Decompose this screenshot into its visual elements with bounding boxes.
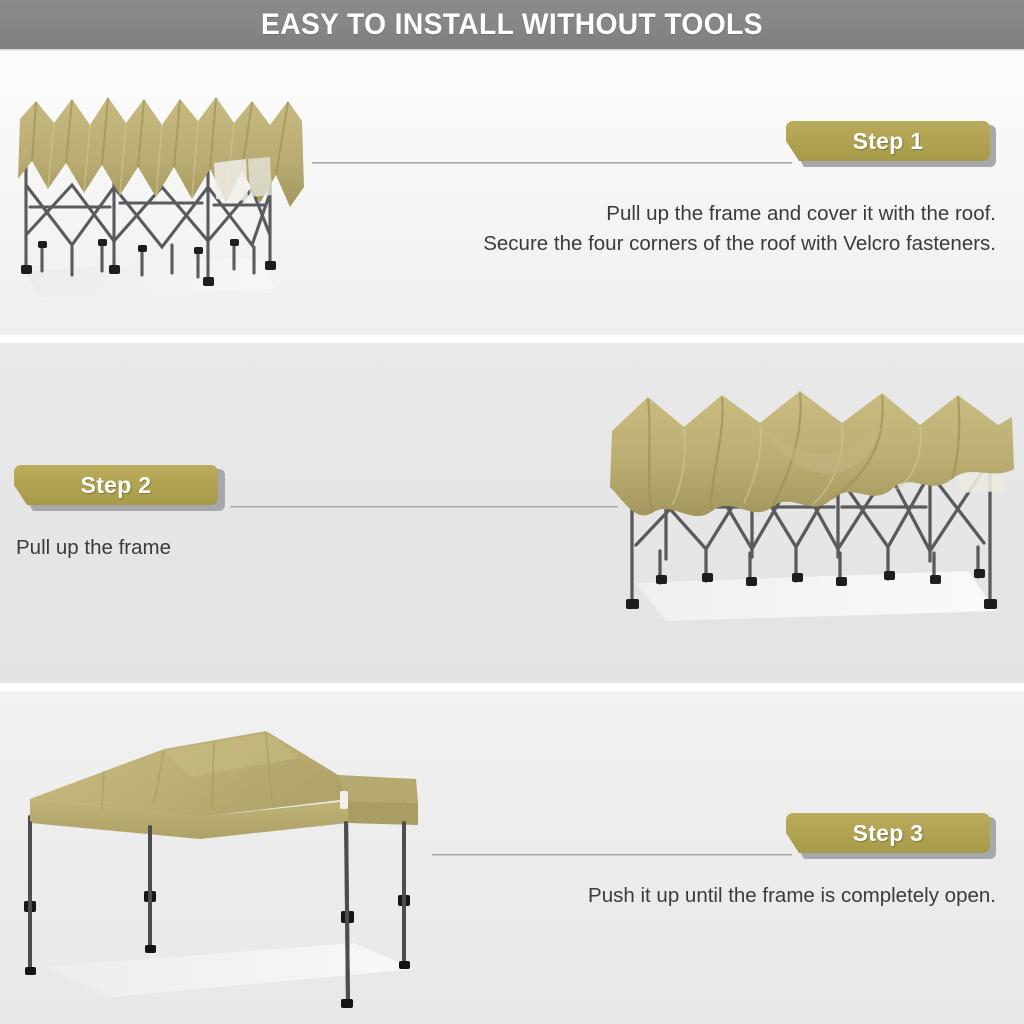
step-1-panel: Step 1 Pull up the frame and cover it wi… <box>0 51 1024 335</box>
step-2-panel: Step 2 Pull up the frame <box>0 343 1024 683</box>
header-banner: EASY TO INSTALL WITHOUT TOOLS <box>0 0 1024 49</box>
step-3-badge: Step 3 <box>786 813 990 855</box>
step-3-image <box>4 705 454 1015</box>
step-2-badge-label: Step 2 <box>81 472 152 499</box>
step-1-badge-label: Step 1 <box>853 128 924 155</box>
step-2-badge-body: Step 2 <box>14 465 218 505</box>
infographic-page: EASY TO INSTALL WITHOUT TOOLS <box>0 0 1024 1024</box>
step-1-badge: Step 1 <box>786 121 990 163</box>
step-2-image <box>600 371 1024 643</box>
step-2-description: Pull up the frame <box>16 533 536 563</box>
step-2-badge: Step 2 <box>14 465 218 507</box>
step-1-description: Pull up the frame and cover it with the … <box>404 199 996 259</box>
step-3-badge-label: Step 3 <box>853 820 924 847</box>
step-3-connector-line <box>432 854 792 856</box>
step-1-image <box>2 75 332 325</box>
step-1-connector-line <box>312 162 792 164</box>
page-title: EASY TO INSTALL WITHOUT TOOLS <box>261 8 763 42</box>
step-3-panel: Step 3 Push it up until the frame is com… <box>0 691 1024 1024</box>
step-3-badge-body: Step 3 <box>786 813 990 853</box>
step-2-connector-line <box>230 506 618 508</box>
step-3-description: Push it up until the frame is completely… <box>404 881 996 911</box>
step-1-badge-body: Step 1 <box>786 121 990 161</box>
